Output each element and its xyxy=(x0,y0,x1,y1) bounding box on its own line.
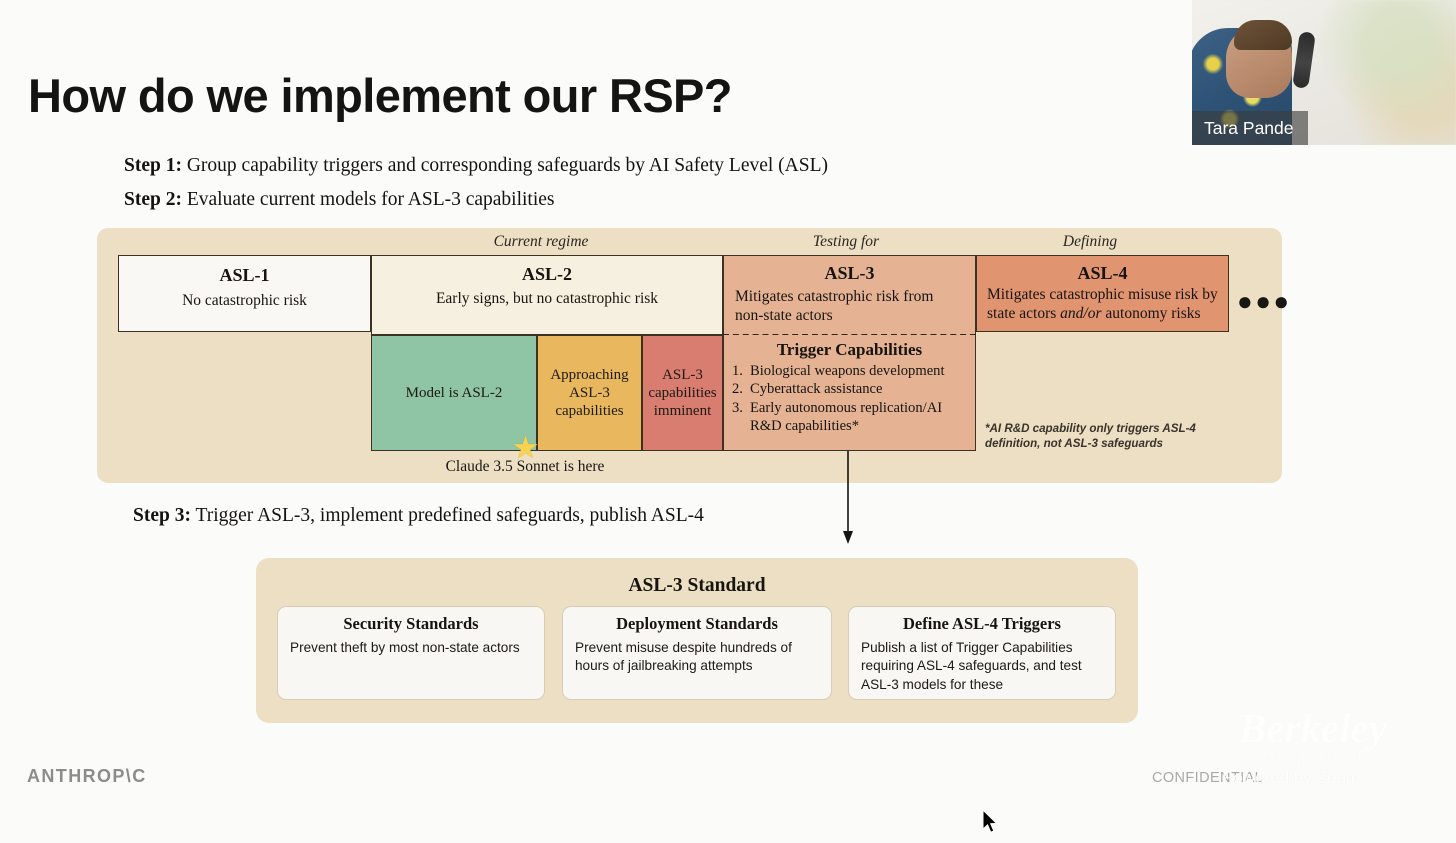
step-3-body: Trigger ASL-3, implement predefined safe… xyxy=(191,505,704,526)
asl-4-desc: Mitigates catastrophic misuse risk by st… xyxy=(987,285,1218,324)
trigger-item-3-text: Early autonomous replication/AI R&D capa… xyxy=(750,400,942,434)
trigger-item-2-number: 2. xyxy=(732,380,750,398)
trigger-item-3-number: 3. xyxy=(732,399,750,417)
standard-card-security-title: Security Standards xyxy=(290,614,532,634)
standard-card-deployment: Deployment Standards Prevent misuse desp… xyxy=(562,606,832,700)
step-3-text: Step 3: Trigger ASL-3, implement predefi… xyxy=(133,505,704,527)
trigger-capabilities-list: 1.Biological weapons development 2.Cyber… xyxy=(732,362,967,436)
trigger-item-1-text: Biological weapons development xyxy=(750,363,945,379)
ellipsis-icon: ●●● xyxy=(1237,288,1292,314)
regime-label-testing: Testing for xyxy=(744,233,948,251)
asl-4-desc-italic: and/or xyxy=(1060,305,1101,322)
list-item: 2.Cyberattack assistance xyxy=(732,380,967,398)
standard-card-define-asl4: Define ASL-4 Triggers Publish a list of … xyxy=(848,606,1116,700)
asl-1-desc: No catastrophic risk xyxy=(129,291,360,311)
asl-3-box: ASL-3 Mitigates catastrophic risk from n… xyxy=(723,255,976,335)
presentation-slide: How do we implement our RSP? Step 1: Gro… xyxy=(0,0,1456,843)
trigger-item-2-text: Cyberattack assistance xyxy=(750,381,883,397)
standard-card-define-body: Publish a list of Trigger Capabilities r… xyxy=(861,639,1103,694)
trigger-capabilities-box: Trigger Capabilities 1.Biological weapon… xyxy=(723,335,976,451)
list-item: 1.Biological weapons development xyxy=(732,362,967,380)
asl-2-title: ASL-2 xyxy=(384,264,710,285)
step-1-body: Group capability triggers and correspond… xyxy=(182,155,828,176)
asl-3-standard-title: ASL-3 Standard xyxy=(256,575,1138,597)
step-2-label: Step 2: xyxy=(124,189,182,210)
asl-footnote: *AI R&D capability only triggers ASL-4 d… xyxy=(985,421,1210,451)
step-2-body: Evaluate current models for ASL-3 capabi… xyxy=(182,189,555,210)
arrow-down-icon xyxy=(838,451,858,546)
standard-card-security: Security Standards Prevent theft by most… xyxy=(277,606,545,700)
standard-card-deployment-body: Prevent misuse despite hundreds of hours… xyxy=(575,639,819,676)
standard-card-security-body: Prevent theft by most non-state actors xyxy=(290,639,532,657)
standard-card-deployment-title: Deployment Standards xyxy=(575,614,819,634)
berkeley-watermark: Berkeley UNIVERSITY OF CALIFORNIA xyxy=(1218,708,1408,770)
asl-1-box: ASL-1 No catastrophic risk xyxy=(118,255,371,332)
step-1-text: Step 1: Group capability triggers and co… xyxy=(124,155,828,177)
capability-cell-approaching-asl3: Approaching ASL-3 capabilities xyxy=(537,335,642,451)
speaker-video-tile[interactable]: Tara Pande xyxy=(1192,0,1456,145)
asl-4-desc-part2: autonomy risks xyxy=(1102,305,1201,322)
trigger-capabilities-title: Trigger Capabilities xyxy=(732,340,967,360)
regime-label-current: Current regime xyxy=(430,233,652,251)
page-title: How do we implement our RSP? xyxy=(28,68,732,123)
mouse-cursor xyxy=(983,810,1001,836)
claude-position-caption: Claude 3.5 Sonnet is here xyxy=(398,458,652,476)
standard-card-define-title: Define ASL-4 Triggers xyxy=(861,614,1103,634)
berkeley-wordmark: Berkeley xyxy=(1218,708,1408,749)
capability-cell-asl3-imminent: ASL-3 capabilities imminent xyxy=(642,335,723,451)
trigger-item-1-number: 1. xyxy=(732,362,750,380)
step-2-text: Step 2: Evaluate current models for ASL-… xyxy=(124,189,555,211)
asl-1-title: ASL-1 xyxy=(129,265,360,286)
speaker-hair xyxy=(1234,20,1292,50)
asl-3-desc: Mitigates catastrophic risk from non-sta… xyxy=(735,287,964,326)
speaker-name: Tara Pande xyxy=(1204,118,1294,139)
asl-4-title: ASL-4 xyxy=(987,263,1218,284)
asl-2-box: ASL-2 Early signs, but no catastrophic r… xyxy=(371,255,723,335)
step-1-label: Step 1: xyxy=(124,155,182,176)
regime-label-defining: Defining xyxy=(990,233,1190,251)
asl-2-desc: Early signs, but no catastrophic risk xyxy=(384,289,710,309)
asl-4-box: ASL-4 Mitigates catastrophic misuse risk… xyxy=(976,255,1229,332)
speaker-name-badge: Tara Pande xyxy=(1192,111,1308,145)
anthropic-logo: ANTHROP\C xyxy=(27,766,147,787)
step-3-label: Step 3: xyxy=(133,505,191,526)
asl-3-title: ASL-3 xyxy=(735,263,964,284)
zoom-watermark: Powered by Zoom xyxy=(1222,768,1360,788)
list-item: 3.Early autonomous replication/AI R&D ca… xyxy=(732,399,967,436)
